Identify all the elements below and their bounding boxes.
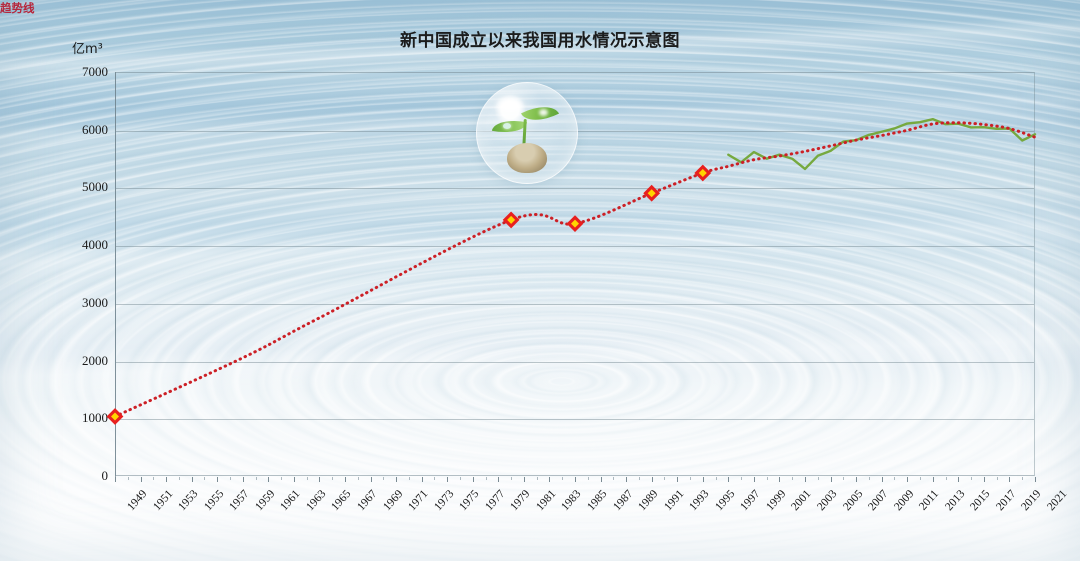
trend-line-annotation: 趋势线 [0, 0, 35, 16]
data-point-marker [108, 409, 122, 423]
trend-line [115, 123, 1035, 417]
data-point-marker [568, 217, 582, 231]
data-point-marker [504, 213, 518, 227]
data-point-marker [696, 166, 710, 180]
chart-screenshot: 新中国成立以来我国用水情况示意图 亿m³ 0100020003000400050… [0, 0, 1080, 561]
series-overlay [0, 0, 1080, 561]
data-point-marker [645, 186, 659, 200]
measured-water-use-line [728, 119, 1035, 169]
